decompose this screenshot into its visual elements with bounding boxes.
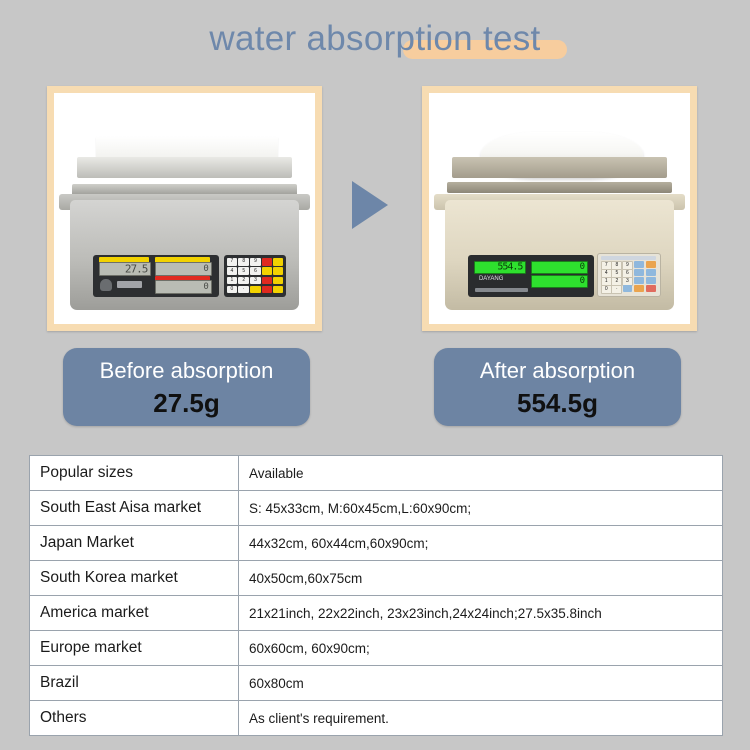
lcd-tertiary: 0	[155, 280, 213, 294]
table-cell-label: Europe market	[30, 631, 239, 666]
table-cell-label: Popular sizes	[30, 456, 239, 491]
lcd-primary-value: 27.5	[125, 262, 148, 275]
scale-keypad[interactable]: 7 8 9 4 5 6 1 2 3 0 ·	[224, 255, 286, 297]
table-row: Europe market60x60cm, 60x90cm;	[30, 631, 723, 666]
table-row: OthersAs client's requirement.	[30, 701, 723, 736]
scale-control-panel: 27.5 0 0	[93, 255, 219, 297]
lcd-secondary-value: 0	[580, 262, 584, 272]
lcd-secondary: 0	[531, 261, 589, 274]
scale-body: 554.5 0 0 DAYANG 7 8 9	[445, 200, 675, 310]
table-cell-value: S: 45x33cm, M:60x45cm,L:60x90cm;	[239, 491, 723, 526]
table-cell-label: Japan Market	[30, 526, 239, 561]
scale-indicator-lamp	[100, 279, 111, 291]
table-row: Japan Market44x32cm, 60x44cm,60x90cm;	[30, 526, 723, 561]
lcd-primary: 554.5	[474, 261, 527, 274]
weighing-scale-before: 27.5 0 0 7 8 9	[54, 132, 315, 310]
table-row: South Korea market40x50cm,60x75cm	[30, 561, 723, 596]
popular-sizes-table-body: Popular sizes Available South East Aisa …	[30, 456, 723, 736]
table-cell-label: South Korea market	[30, 561, 239, 596]
lcd-primary: 27.5	[99, 262, 152, 276]
lcd-secondary: 0	[155, 262, 213, 276]
photo-frame-after: 554.5 0 0 DAYANG 7 8 9	[422, 86, 697, 331]
scale-platform-bottom	[447, 182, 671, 193]
lcd-tertiary-value: 0	[203, 282, 207, 292]
panel-logo-plate	[117, 281, 142, 289]
right-triangle-arrow-icon	[352, 181, 388, 229]
scale-brand-label: DAYANG	[479, 276, 503, 282]
table-row-header: Popular sizes Available	[30, 456, 723, 491]
caption-after-label: After absorption	[434, 357, 681, 385]
weighing-scale-after: 554.5 0 0 DAYANG 7 8 9	[429, 132, 690, 310]
scale-control-panel: 554.5 0 0 DAYANG	[468, 255, 594, 297]
caption-before-value: 27.5g	[63, 387, 310, 419]
panel-label-strip	[475, 288, 528, 291]
scale-body: 27.5 0 0 7 8 9	[70, 200, 300, 310]
keypad-header-strip	[601, 256, 656, 260]
photo-before-absorption: 27.5 0 0 7 8 9	[54, 93, 315, 324]
lcd-tertiary-value: 0	[580, 276, 584, 286]
table-row: South East Aisa marketS: 45x33cm, M:60x4…	[30, 491, 723, 526]
lcd-secondary-value: 0	[203, 264, 207, 274]
table-cell-value: Available	[239, 456, 723, 491]
title-wrapper: water absorption test	[203, 14, 546, 64]
table-cell-label: Brazil	[30, 666, 239, 701]
table-cell-value: As client's requirement.	[239, 701, 723, 736]
caption-before-absorption: Before absorption 27.5g	[63, 348, 310, 426]
table-row: America market21x21inch, 22x22inch, 23x2…	[30, 596, 723, 631]
table-cell-value: 60x60cm, 60x90cm;	[239, 631, 723, 666]
table-row: Brazil60x80cm	[30, 666, 723, 701]
scale-platform-top	[452, 157, 666, 178]
table-cell-value: 40x50cm,60x75cm	[239, 561, 723, 596]
table-cell-value: 44x32cm, 60x44cm,60x90cm;	[239, 526, 723, 561]
lcd-tertiary: 0	[531, 275, 589, 288]
table-cell-label: America market	[30, 596, 239, 631]
table-cell-value: 21x21inch, 22x22inch, 23x23inch,24x24inc…	[239, 596, 723, 631]
page-title: water absorption test	[209, 19, 540, 58]
table-cell-value: 60x80cm	[239, 666, 723, 701]
photo-frame-before: 27.5 0 0 7 8 9	[47, 86, 322, 331]
caption-after-absorption: After absorption 554.5g	[434, 348, 681, 426]
title-area: water absorption test	[0, 14, 750, 70]
scale-keypad[interactable]: 7 8 9 4 5 6 1 2 3 0 ·	[597, 253, 661, 297]
scale-platform-top	[77, 157, 291, 178]
caption-after-value: 554.5g	[434, 387, 681, 419]
caption-before-label: Before absorption	[63, 357, 310, 385]
popular-sizes-table: Popular sizes Available South East Aisa …	[29, 455, 723, 736]
table-cell-label: Others	[30, 701, 239, 736]
photo-after-absorption: 554.5 0 0 DAYANG 7 8 9	[429, 93, 690, 324]
lcd-primary-value: 554.5	[497, 262, 522, 273]
table-cell-label: South East Aisa market	[30, 491, 239, 526]
